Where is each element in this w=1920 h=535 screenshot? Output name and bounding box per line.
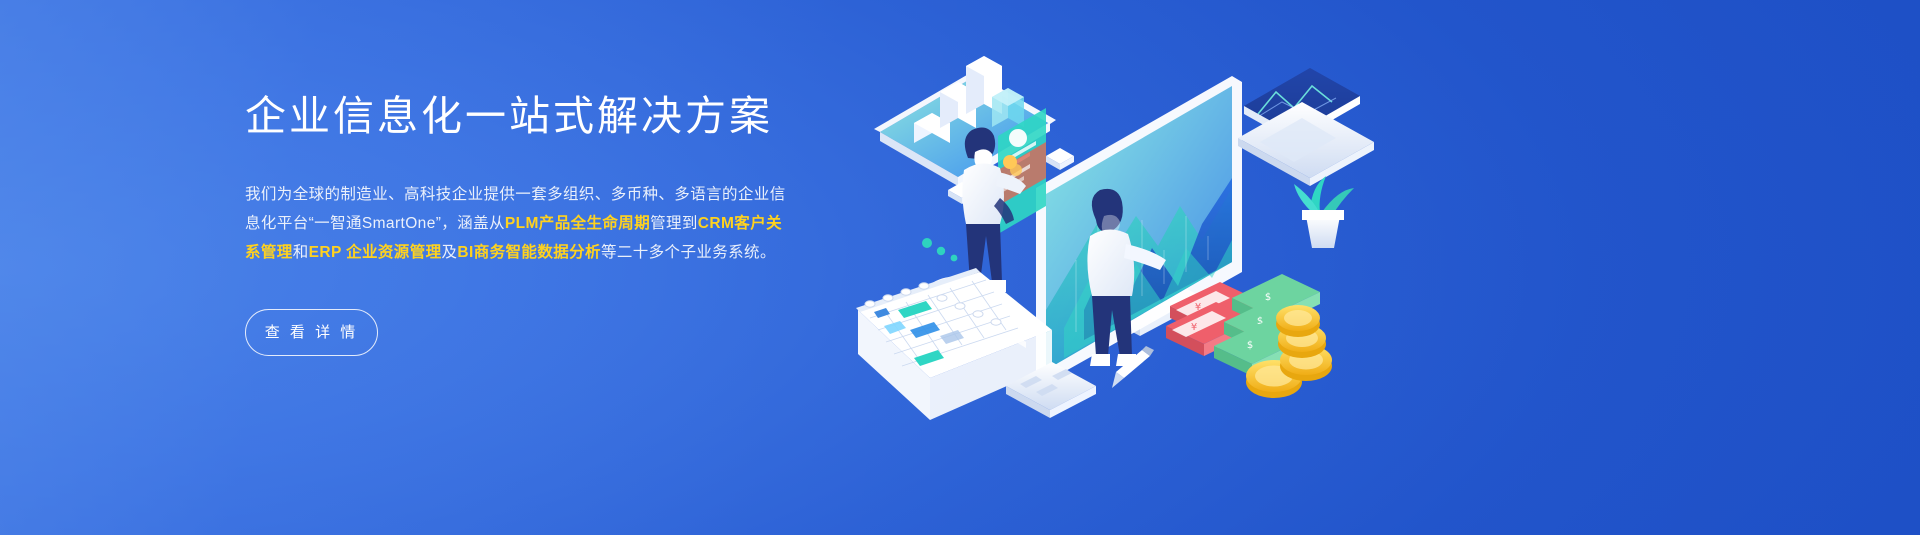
view-details-button[interactable]: 查 看 详 情 [245,309,378,356]
description-text: 及 [442,244,458,261]
hero-description: 我们为全球的制造业、高科技企业提供一套多组织、多币种、多语言的企业信息化平台“一… [245,180,797,267]
hero-copy-block: 企业信息化一站式解决方案 我们为全球的制造业、高科技企业提供一套多组织、多币种、… [245,88,805,356]
highlighted-term: ERP 企业资源管理 [309,244,442,261]
highlighted-term: BI商务智能数据分析 [457,244,601,261]
isometric-illustration: ¥ ¥ $ $ $ [840,10,1400,430]
description-text: 平台“一智通SmartOne”，涵盖从 [277,215,505,232]
highlighted-term: PLM产品全生命周期 [505,215,650,232]
description-text: 等二十多个子业务系统。 [601,244,776,261]
hero-banner: 企业信息化一站式解决方案 我们为全球的制造业、高科技企业提供一套多组织、多币种、… [0,0,1920,535]
description-text: 和 [293,244,309,261]
pen-icon [1112,346,1154,388]
svg-text:¥: ¥ [1191,322,1197,333]
svg-text:$: $ [1247,340,1253,351]
description-text: 管理到 [650,215,698,232]
potted-plant-icon [1294,176,1354,248]
page-title: 企业信息化一站式解决方案 [245,88,805,144]
laptop-line-chart-icon [1238,68,1374,186]
